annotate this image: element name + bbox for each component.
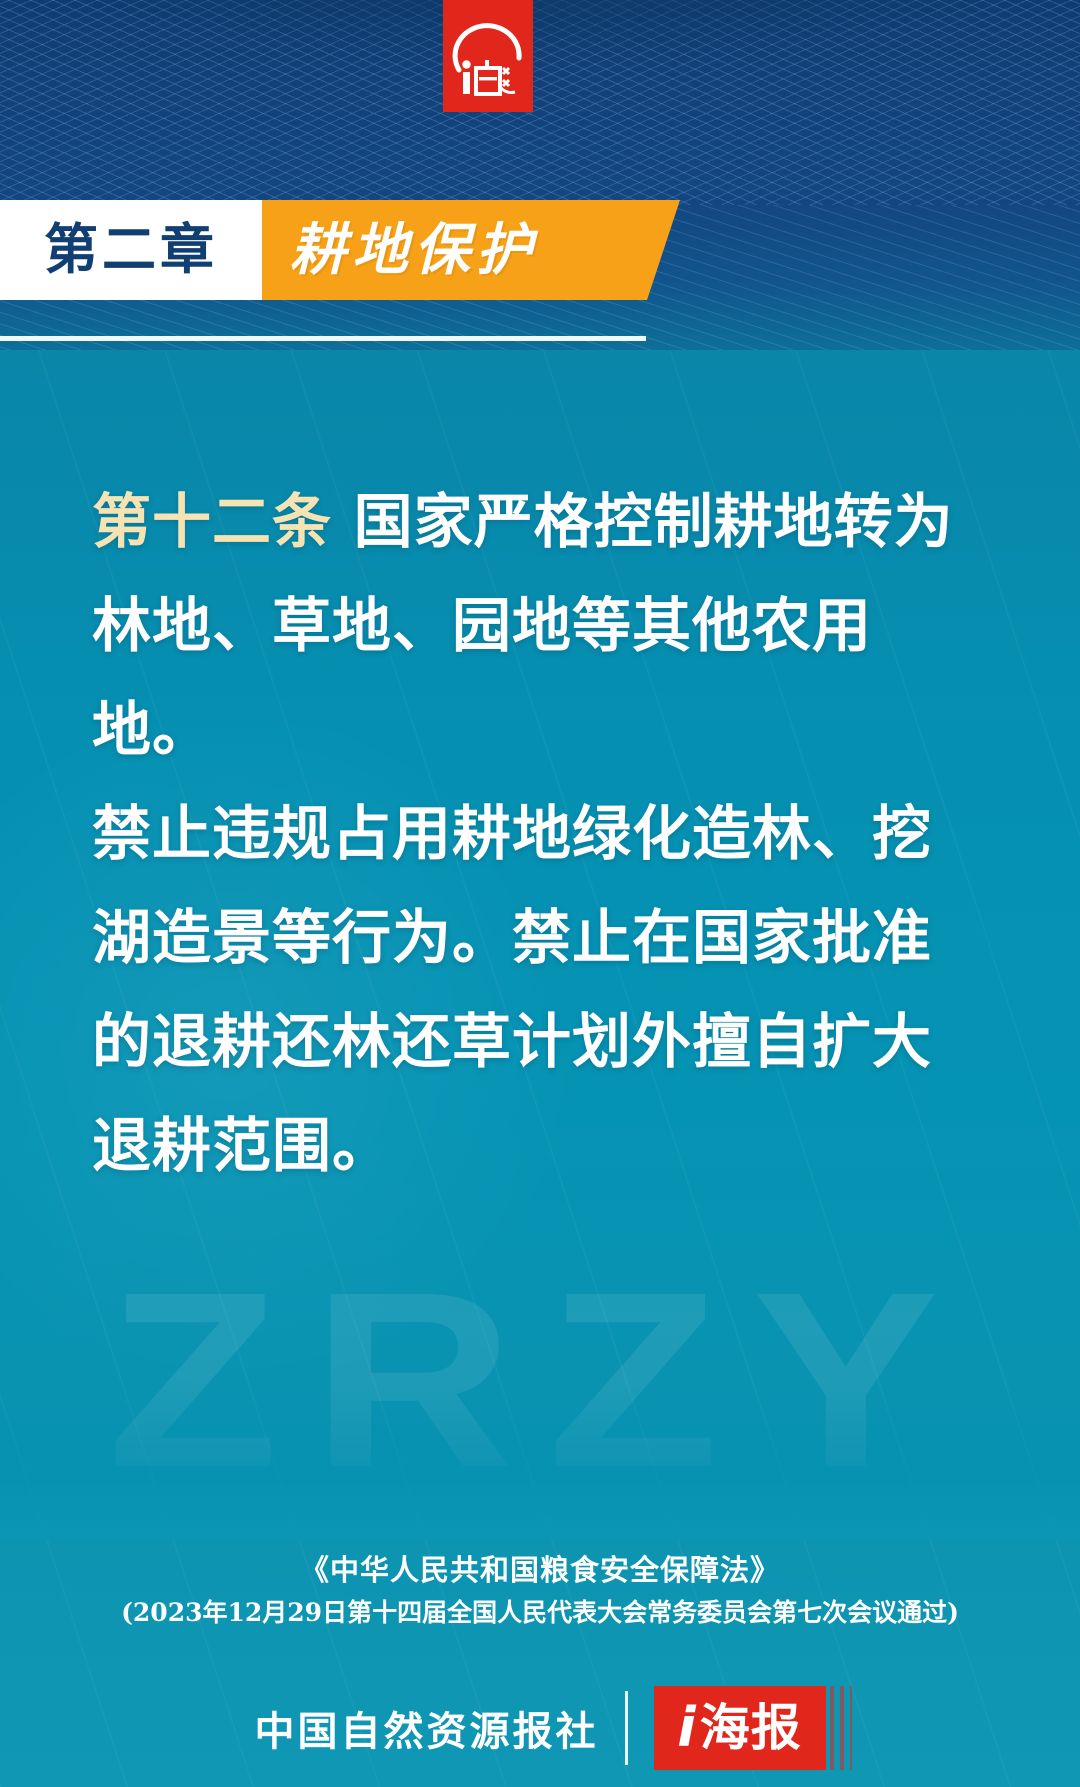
izran-logo [443, 0, 533, 112]
footer-divider [625, 1691, 628, 1765]
article-body: 第十二条 国家严格控制耕地转为 林地、草地、园地等其他农用地。 禁止违规占用耕地… [92, 470, 972, 1198]
article-number: 第十二条 [92, 487, 332, 556]
chapter-underline [0, 336, 646, 341]
header-vignette [0, 0, 1080, 120]
poster-root: ZRZY 第二章 耕地保护 第十二条 国家严格控制 [0, 0, 1080, 1787]
ihaibao-stripes-icon [830, 1686, 852, 1770]
article-line-1: 第十二条 国家严格控制耕地转为 [92, 470, 972, 574]
footer-publisher: 中国自然资源报社 [255, 1699, 599, 1757]
citation-law-title: 《中华人民共和国粮食安全保障法》 [0, 1548, 1080, 1592]
chapter-title-box: 耕地保护 [262, 200, 680, 300]
article-line-3: 禁止违规占用耕地绿化造林、挖 [92, 782, 972, 886]
ihaibao-name: 海报 [700, 1703, 802, 1753]
chapter-label-box: 第二章 [0, 200, 262, 300]
header-band [0, 0, 1080, 205]
ihaibao-logo-text: i 海报 [677, 1701, 802, 1755]
chapter-title: 耕地保护 [290, 222, 538, 278]
article-line-1-text: 国家严格控制耕地转为 [354, 487, 954, 556]
article-line-2: 林地、草地、园地等其他农用地。 [92, 574, 972, 782]
article-line-6: 退耕范围。 [92, 1094, 972, 1198]
ihaibao-logo: i 海报 [654, 1686, 826, 1770]
chapter-label: 第二章 [44, 223, 218, 277]
article-line-4: 湖造景等行为。禁止在国家批准 [92, 886, 972, 990]
izran-logo-icon [443, 0, 533, 112]
citation: 《中华人民共和国粮食安全保障法》 (2023年12月29日第十四届全国人民代表大… [0, 1548, 1080, 1634]
footer: 中国自然资源报社 i 海报 [0, 1668, 1080, 1787]
ihaibao-i: i [677, 1701, 697, 1755]
article-line-5: 的退耕还林还草计划外擅自扩大 [92, 990, 972, 1094]
citation-adoption-note: (2023年12月29日第十四届全国人民代表大会常务委员会第七次会议通过) [0, 1592, 1080, 1634]
chapter-banner: 第二章 耕地保护 [0, 200, 680, 300]
